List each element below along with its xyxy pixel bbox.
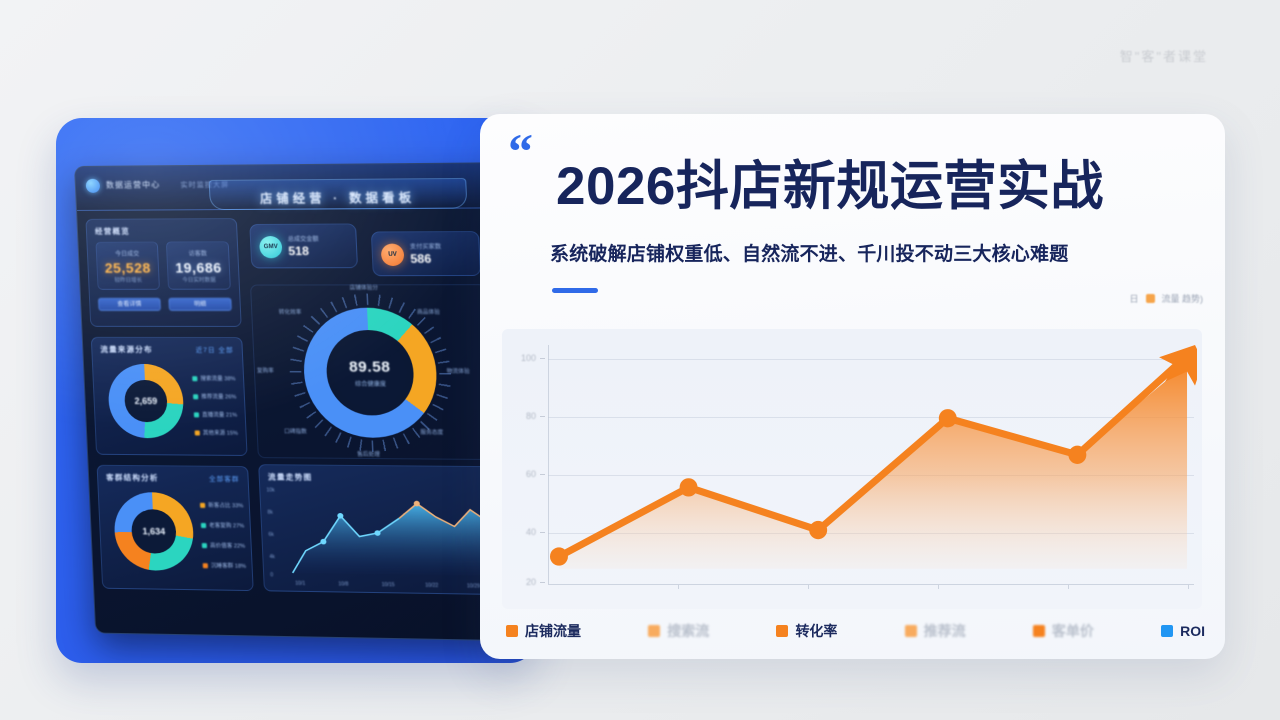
dashboard-logo-label: 数据运营中心: [106, 179, 161, 190]
legend-label: 推荐流: [924, 621, 966, 641]
legend-item: 直播流量 21%: [194, 410, 238, 418]
kpi-sub: 今日实时数据: [168, 276, 229, 284]
panel-traffic-title: 流量来源分布: [100, 344, 153, 355]
metric-pill: GMV 总成交金额 518: [249, 223, 358, 268]
trend-y-tick: 10k: [266, 487, 275, 493]
donut-center-value: 2,659: [107, 364, 185, 439]
y-tick-label: 20: [510, 577, 536, 587]
kpi-button[interactable]: 明细: [168, 298, 231, 311]
gauge-value: 89.58: [349, 358, 391, 375]
kpi-value: 25,528: [97, 260, 158, 276]
legend-item-5[interactable]: ROI: [1161, 623, 1205, 639]
legend-item-3[interactable]: 推荐流: [905, 621, 966, 641]
data-point: [939, 409, 957, 427]
kpi-tile: 访客数 19,686 今日实时数据: [166, 241, 231, 289]
gauge-tick-label: 口碑指数: [284, 427, 307, 435]
logo-icon: [86, 179, 101, 193]
gauge-tick-label: 售后处理: [357, 450, 380, 458]
trend-x-tick: 10/22: [425, 583, 438, 589]
y-tick-label: 100: [510, 353, 536, 363]
gauge-tick-label: 物流体验: [447, 367, 470, 375]
dashboard-mock: 数据运营中心 实时监控大屏 店铺经营 · 数据看板 管理员 运营 后台 经营概览…: [74, 161, 536, 643]
panel-overview-title: 经营概览: [95, 226, 130, 237]
watermark: 智"客"者课堂: [1120, 46, 1208, 65]
kpi-tile: 今日成交 25,528 较昨日增长: [95, 242, 160, 290]
panel-gauge: 89.58 综合健康度 店铺体验分 商品体验 物流体验 服务态度 售后处理 口碑…: [250, 284, 494, 460]
data-point: [550, 547, 568, 565]
kpi-label: 今日成交: [97, 249, 158, 258]
legend-item: 推荐流量 26%: [193, 392, 237, 400]
dashboard-title: 店铺经营 · 数据看板: [260, 189, 416, 207]
y-tick: [540, 416, 545, 417]
gauge-tick-label: 店铺体验分: [349, 283, 378, 291]
uv-icon: UV: [381, 244, 405, 266]
dashboard-preview-card: 数据运营中心 实时监控大屏 店铺经营 · 数据看板 管理员 运营 后台 经营概览…: [56, 118, 536, 663]
gauge-tick-label: 转化效率: [279, 308, 302, 316]
legend-item: 其他来源 15%: [195, 428, 239, 436]
trend-y-tick: 6k: [268, 532, 274, 538]
legend-label: 店铺流量: [525, 621, 581, 641]
panel-customer-title: 客群结构分析: [106, 472, 159, 484]
growth-chart: 100 80 60 40 20: [502, 329, 1202, 609]
chart-series-label: 流量 趋势): [1162, 292, 1204, 305]
pill-value: 518: [288, 244, 309, 258]
panel-overview: 经营概览 今日成交 25,528 较昨日增长 访客数 19,686 今日实时数据…: [85, 218, 241, 327]
y-tick-label: 60: [510, 469, 536, 479]
data-point: [1068, 446, 1086, 464]
legend-item-0[interactable]: 店铺流量: [506, 621, 581, 641]
legend-item-4[interactable]: 客单价: [1033, 621, 1094, 641]
chart-legend: 店铺流量 搜索流 转化率 推荐流 客单价 ROI: [506, 621, 1205, 641]
metric-pill: UV 支付买家数 586: [371, 231, 481, 276]
legend-swatch: [1161, 625, 1173, 637]
trend-area-chart: [287, 484, 494, 580]
panel-trend: 流量走势图 10k 8k 6k 4k 0: [258, 464, 500, 595]
kpi-value: 19,686: [168, 259, 230, 275]
quote-mark-icon: “: [508, 136, 533, 166]
content-card: “ 2026抖店新规运营实战 系统破解店铺权重低、自然流不进、千川投不动三大核心…: [480, 114, 1225, 659]
legend-label: 搜索流: [667, 621, 709, 641]
trend-x-tick: 10/8: [338, 581, 348, 587]
panel-customer-link[interactable]: 全部客群: [209, 473, 240, 483]
y-tick: [540, 532, 545, 533]
chart-series-swatch: [1146, 294, 1155, 303]
dashboard-screen: 数据运营中心 实时监控大屏 店铺经营 · 数据看板 管理员 运营 后台 经营概览…: [74, 161, 536, 643]
legend-swatch: [776, 625, 788, 637]
kpi-sub: 较昨日增长: [98, 276, 159, 284]
chart-header-legend: 日 流量 趋势): [1129, 292, 1203, 305]
gauge-tick-label: 复购率: [257, 366, 274, 374]
legend-label: 客单价: [1052, 621, 1094, 641]
legend-item: 搜索流量 38%: [192, 374, 236, 382]
gauge-sub: 综合健康度: [355, 378, 386, 387]
panel-traffic-source: 流量来源分布 近7日 全部 2,659 搜索流量 38% 推荐流量 26% 直播…: [91, 337, 248, 456]
gauge-value-wrap: 89.58 综合健康度: [301, 308, 439, 438]
legend-item-2[interactable]: 转化率: [776, 621, 837, 641]
legend-label: 转化率: [795, 621, 837, 641]
y-tick: [540, 474, 545, 475]
trend-x-tick: 10/29: [467, 583, 480, 589]
page-title: 2026抖店新规运营实战: [556, 144, 1104, 220]
trend-y-tick: 0: [270, 572, 273, 578]
pill-value: 586: [410, 252, 431, 266]
trend-y-tick: 8k: [267, 510, 273, 516]
pill-label: 支付买家数: [410, 241, 442, 250]
legend-swatch: [905, 625, 917, 637]
legend-label: ROI: [1180, 623, 1205, 639]
panel-trend-title: 流量走势图: [268, 471, 313, 483]
panel-customer: 客群结构分析 全部客群 1,634 新客占比 33% 老客复购 27% 高价值客…: [97, 465, 254, 591]
donut-chart-customer: 1,634: [113, 492, 195, 571]
donut-center-value: 1,634: [113, 492, 195, 571]
page-subtitle: 系统破解店铺权重低、自然流不进、千川投不动三大核心难题: [550, 239, 1068, 266]
trend-x-tick: 10/15: [382, 582, 395, 588]
legend-item: 高价值客 22%: [202, 541, 246, 550]
kpi-label: 访客数: [167, 248, 228, 257]
legend-item-1[interactable]: 搜索流: [648, 621, 709, 641]
legend-swatch: [506, 625, 518, 637]
trend-y-tick: 4k: [269, 554, 275, 560]
trend-x-tick: 10/1: [295, 581, 305, 587]
kpi-button[interactable]: 查看详情: [98, 298, 161, 311]
pill-label: 总成交金额: [288, 234, 319, 243]
gmv-icon: GMV: [259, 236, 282, 258]
donut-chart-traffic: 2,659: [107, 364, 185, 439]
chart-period-label: 日: [1129, 292, 1138, 305]
accent-rule: [552, 288, 598, 293]
legend-swatch: [648, 625, 660, 637]
legend-item: 新客占比 33%: [200, 501, 244, 510]
data-point: [809, 521, 827, 539]
dashboard-header: 数据运营中心 实时监控大屏 店铺经营 · 数据看板 管理员 运营 后台: [75, 162, 536, 211]
panel-traffic-link[interactable]: 近7日 全部: [195, 344, 233, 354]
legend-swatch: [1033, 625, 1045, 637]
y-tick-label: 40: [510, 527, 536, 537]
y-tick: [540, 582, 545, 583]
y-tick-label: 80: [510, 411, 536, 421]
y-tick: [540, 358, 545, 359]
growth-line-series: [549, 345, 1197, 585]
legend-item: 沉睡客群 18%: [203, 561, 247, 570]
data-point: [680, 478, 698, 496]
legend-item: 老客复购 27%: [201, 521, 245, 530]
